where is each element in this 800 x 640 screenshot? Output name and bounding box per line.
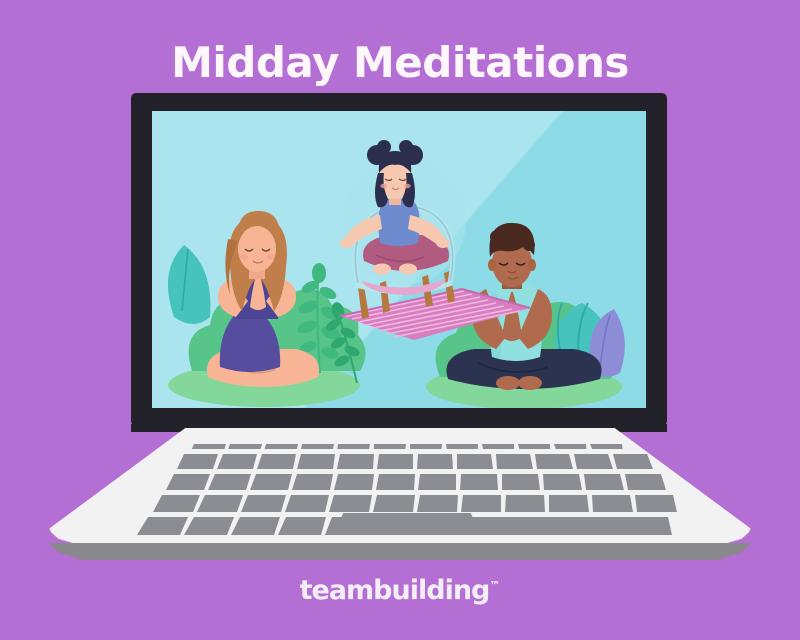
figure-top (340, 140, 466, 319)
brand-logo-text: teambuilding (300, 575, 490, 606)
laptop-trackpad[interactable] (333, 513, 481, 535)
figure-left (168, 211, 366, 407)
brand-logo: teambuilding™ (0, 575, 800, 606)
laptop-screen (152, 111, 646, 408)
trademark-icon: ™ (489, 579, 500, 592)
meditation-scene (152, 111, 646, 408)
laptop-illustration (0, 0, 800, 640)
poster-canvas: Midday Meditations (0, 0, 800, 640)
